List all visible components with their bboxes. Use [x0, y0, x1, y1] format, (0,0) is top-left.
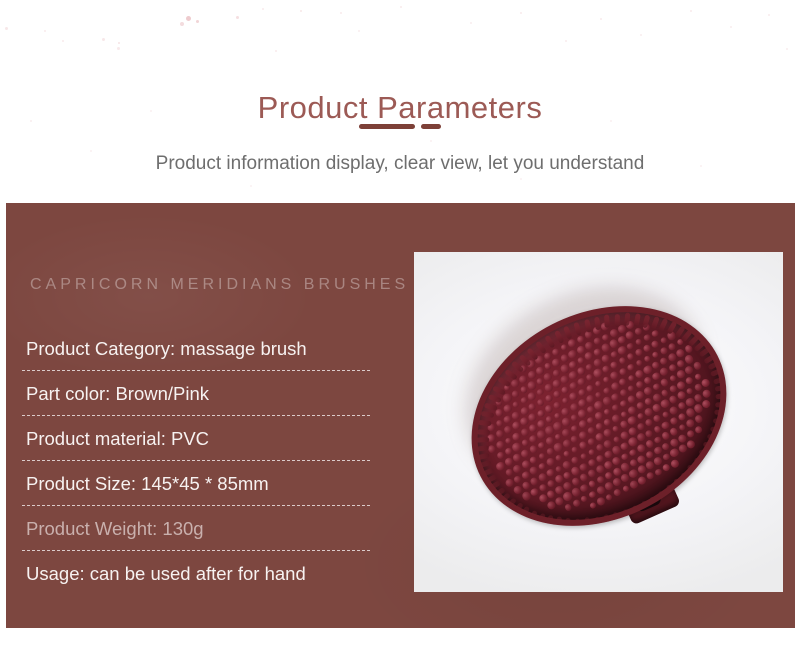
spec-text: Product Weight: 130g	[22, 518, 204, 540]
spec-text: Product Size: 145*45 * 85mm	[22, 473, 269, 495]
brush-head	[440, 271, 757, 562]
divider-bar-long	[359, 124, 415, 129]
product-image-box	[414, 252, 783, 592]
page-title: Product Parameters	[0, 90, 800, 126]
spec-row: Product Category: massage brush	[22, 326, 372, 371]
page-subtitle: Product information display, clear view,…	[0, 153, 800, 175]
brand-watermark: CAPRICORN MERIDIANS BRUSHES	[30, 276, 409, 294]
divider-bar-short	[421, 124, 441, 129]
spec-row: Part color: Brown/Pink	[22, 371, 372, 416]
massage-brush-photo	[449, 272, 749, 572]
spec-row: Product Weight: 130g	[22, 506, 372, 551]
spec-text: Product material: PVC	[22, 428, 209, 450]
brush-rim	[433, 264, 764, 568]
title-divider	[0, 124, 800, 129]
spec-row: Product Size: 145*45 * 85mm	[22, 461, 372, 506]
spec-text: Product Category: massage brush	[22, 338, 307, 360]
spec-list: Product Category: massage brush Part col…	[22, 326, 372, 596]
spec-text: Part color: Brown/Pink	[22, 383, 209, 405]
spec-row: Product material: PVC	[22, 416, 372, 461]
spec-text: Usage: can be used after for hand	[22, 563, 306, 585]
page-header: Product Parameters Product information d…	[0, 0, 800, 203]
spec-row: Usage: can be used after for hand	[22, 551, 372, 596]
